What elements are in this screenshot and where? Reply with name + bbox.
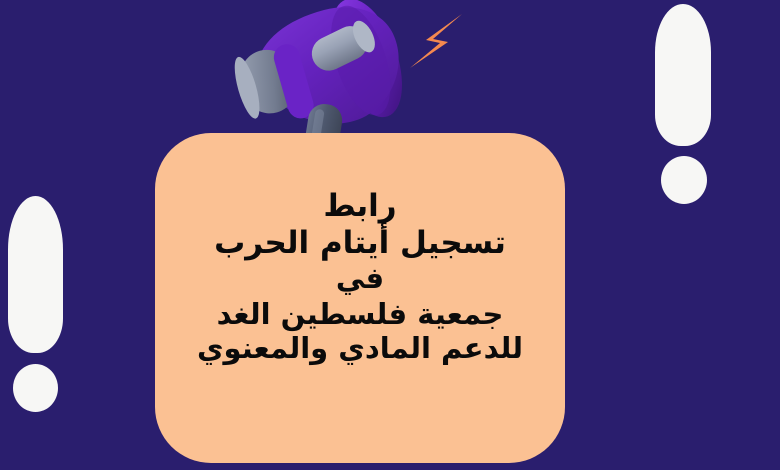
message-line-1: رابط (179, 189, 541, 224)
exclamation-dot (13, 364, 58, 412)
message-line-3: في (179, 262, 541, 294)
exclamation-mark-icon-left (8, 196, 68, 418)
lightning-bolt-icon (404, 12, 466, 70)
message-line-4: جمعية فلسطين الغد (179, 298, 541, 330)
exclamation-dot (661, 156, 707, 204)
announcement-message: رابط تسجيل أيتام الحرب في جمعية فلسطين ا… (155, 133, 565, 463)
exclamation-bar (8, 196, 63, 353)
exclamation-bar (655, 4, 711, 146)
exclamation-mark-icon-right (655, 4, 715, 204)
announcement-poster: رابط تسجيل أيتام الحرب في جمعية فلسطين ا… (0, 0, 780, 470)
message-line-2: تسجيل أيتام الحرب (179, 226, 541, 261)
message-line-5: للدعم المادي والمعنوي (179, 332, 541, 364)
